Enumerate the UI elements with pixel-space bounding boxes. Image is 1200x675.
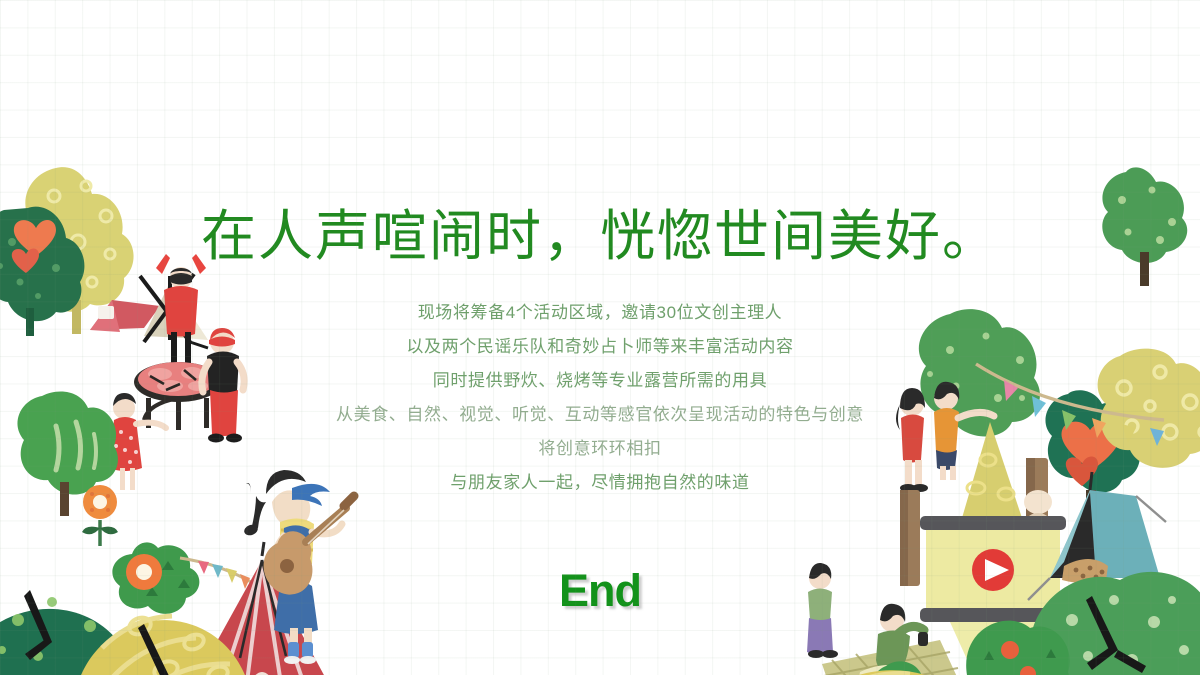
- page-title: 在人声喧闹时，恍惚世间美好。: [0, 204, 1200, 268]
- body-line: 现场将筹备4个活动区域，邀请30位文创主理人: [0, 296, 1200, 330]
- body-line: 将创意环环相扣: [0, 432, 1200, 466]
- end-mark: End: [0, 565, 1200, 617]
- slide-canvas: 在人声喧闹时，恍惚世间美好。 现场将筹备4个活动区域，邀请30位文创主理人 以及…: [0, 0, 1200, 675]
- body-line: 同时提供野炊、烧烤等专业露营所需的用具: [0, 364, 1200, 398]
- body-line: 以及两个民谣乐队和奇妙占卜师等来丰富活动内容: [0, 330, 1200, 364]
- body-paragraph: 现场将筹备4个活动区域，邀请30位文创主理人 以及两个民谣乐队和奇妙占卜师等来丰…: [0, 296, 1200, 500]
- body-line: 与朋友家人一起，尽情拥抱自然的味道: [0, 466, 1200, 500]
- body-line: 从美食、自然、视觉、听觉、互动等感官依次呈现活动的特色与创意: [0, 398, 1200, 432]
